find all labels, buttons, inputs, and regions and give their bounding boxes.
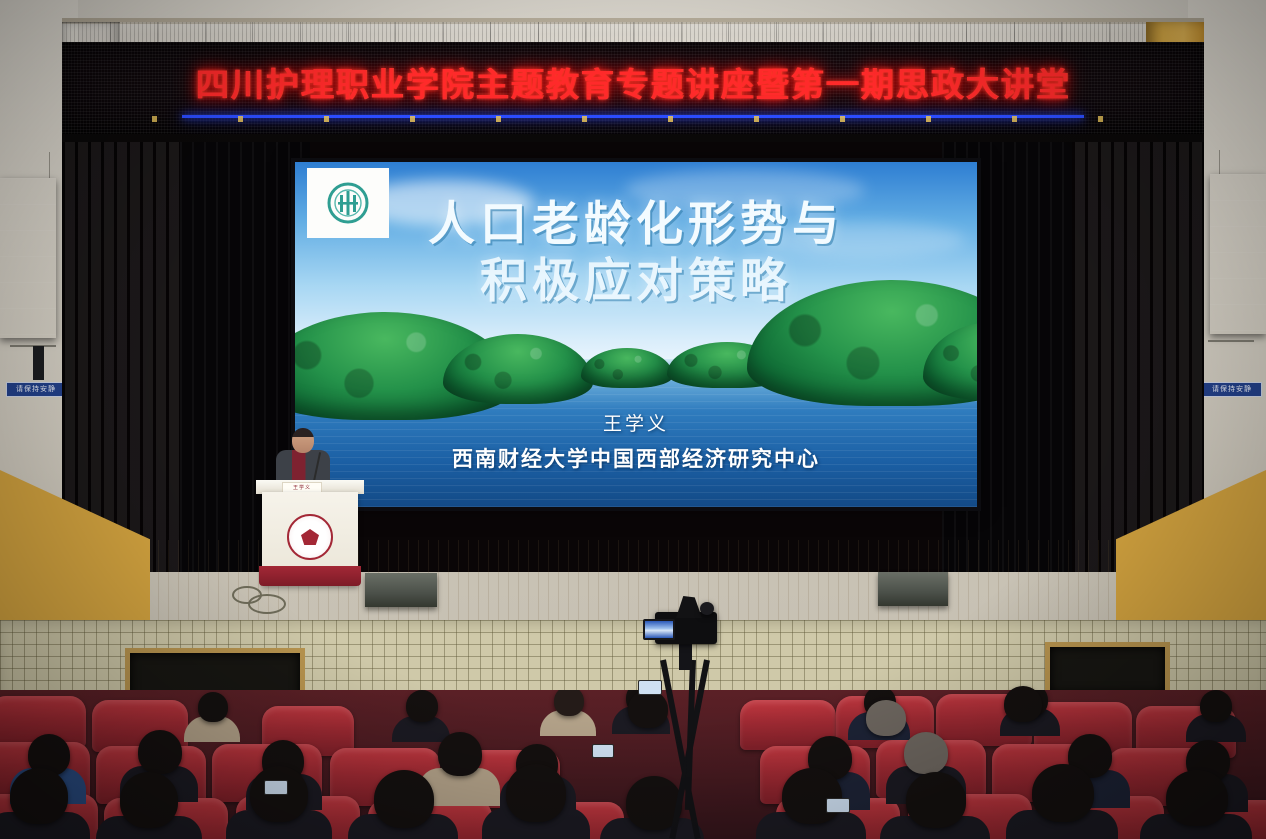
attendee-head bbox=[1166, 770, 1228, 826]
crest-shape-icon bbox=[301, 529, 319, 545]
right-pa-arm bbox=[1208, 340, 1254, 342]
led-banner-display: 四川护理职业学院主题教育专题讲座暨第一期思政大讲堂 bbox=[62, 42, 1204, 134]
stage-monitor-speaker-right bbox=[878, 572, 948, 606]
left-quiet-sign: 请保持安静 bbox=[6, 382, 66, 397]
attendee-head bbox=[138, 730, 182, 774]
attendee-head bbox=[198, 692, 228, 722]
screen-bezel bbox=[291, 158, 981, 511]
lectern-podium bbox=[262, 492, 358, 586]
attendee-head bbox=[506, 764, 566, 822]
stage-cable-loop bbox=[248, 594, 286, 614]
video-camera-handle-ring bbox=[700, 602, 714, 615]
stage-floor bbox=[78, 540, 1188, 630]
photographer-phone bbox=[638, 680, 662, 695]
right-pa-speaker bbox=[1210, 174, 1266, 334]
right-pa-wire bbox=[1219, 150, 1220, 174]
stage-monitor-speaker-left bbox=[365, 573, 437, 607]
attendee-head bbox=[1004, 686, 1042, 722]
podium-base-band bbox=[259, 566, 361, 586]
attendee-head bbox=[406, 690, 438, 722]
attendee-head bbox=[438, 732, 482, 776]
attendee-head bbox=[374, 770, 434, 828]
podium-crest-emblem bbox=[287, 514, 333, 560]
attendee-head bbox=[554, 690, 584, 716]
attendee-head bbox=[1032, 764, 1094, 822]
auditorium-lecture-photo: 请保持安静 请保持安静 四川护理职业学院主题教育专题讲座暨第一期思政大讲堂 bbox=[0, 0, 1266, 839]
led-warm-lights bbox=[152, 116, 1114, 122]
attendee-head-gray bbox=[904, 732, 948, 774]
right-red-curtain bbox=[1072, 142, 1204, 572]
photographer-head bbox=[628, 690, 668, 728]
banner-headline: 四川护理职业学院主题教育专题讲座暨第一期思政大讲堂 bbox=[62, 58, 1204, 106]
video-camera-lcd-screen bbox=[643, 619, 675, 640]
attendee-head-gray bbox=[866, 700, 906, 736]
stage-opening: 人口老龄化形势与 积极应对策略 王学义 西南财经大学中国西部经济研究中心 bbox=[62, 142, 1204, 572]
attendee-phone bbox=[826, 798, 850, 813]
attendee-head bbox=[10, 768, 68, 824]
left-pa-speaker bbox=[0, 178, 56, 338]
attendee-head bbox=[1200, 690, 1232, 722]
attendee-phone bbox=[264, 780, 288, 795]
attendee-phone bbox=[592, 744, 614, 758]
attendee-head bbox=[906, 772, 966, 828]
attendee-head bbox=[782, 768, 842, 824]
attendee-head bbox=[120, 772, 178, 828]
right-quiet-sign: 请保持安静 bbox=[1202, 382, 1262, 397]
speaker-head bbox=[292, 428, 314, 453]
left-pa-mount-box bbox=[33, 346, 44, 380]
left-pa-wire bbox=[49, 152, 50, 178]
